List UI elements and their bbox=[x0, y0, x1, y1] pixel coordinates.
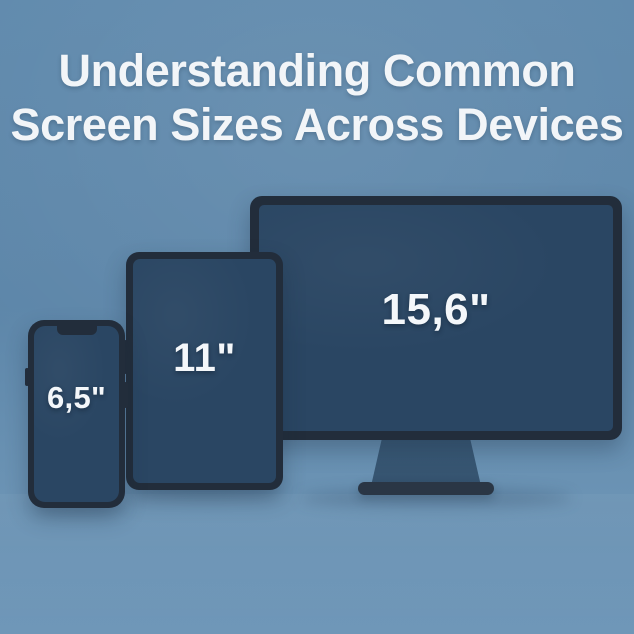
monitor-stand-base bbox=[358, 482, 494, 495]
monitor-size-label: 15,6" bbox=[250, 288, 622, 332]
tablet-size-label: 11" bbox=[126, 338, 283, 378]
title-line-2: Screen Sizes Across Devices bbox=[0, 98, 634, 152]
floor-band bbox=[0, 494, 634, 634]
page-title: Understanding Common Screen Sizes Across… bbox=[0, 44, 634, 152]
monitor-stand-neck bbox=[371, 438, 481, 486]
title-line-1: Understanding Common bbox=[0, 44, 634, 98]
phone-notch-icon bbox=[57, 326, 97, 335]
infographic-poster: Understanding Common Screen Sizes Across… bbox=[0, 0, 634, 634]
phone-size-label: 6,5" bbox=[28, 382, 125, 413]
